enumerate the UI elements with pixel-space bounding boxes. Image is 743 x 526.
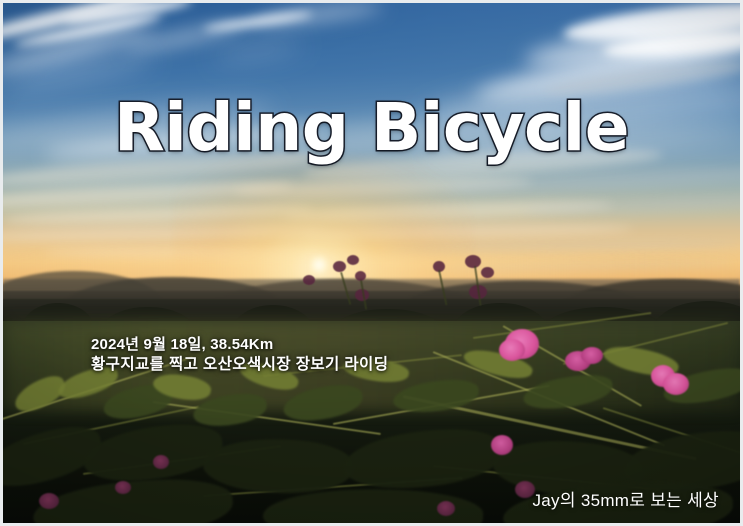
page-title: Riding Bicycle — [3, 95, 740, 161]
caption-date-distance: 2024년 9월 18일, 38.54Km — [91, 335, 388, 354]
photo-canvas: Riding Bicycle 2024년 9월 18일, 38.54Km 황구지… — [3, 3, 740, 523]
cosmos-flower — [153, 455, 169, 469]
cosmos-silhouette — [481, 267, 494, 278]
cosmos-silhouette — [303, 275, 315, 285]
sun-disc — [308, 255, 330, 275]
caption-route-description: 황구지교를 찍고 오산오색시장 장보기 라이딩 — [91, 354, 388, 375]
cosmos-flower — [581, 347, 603, 364]
caption-block: 2024년 9월 18일, 38.54Km 황구지교를 찍고 오산오색시장 장보… — [91, 335, 388, 375]
cosmos-flower — [437, 501, 455, 516]
cosmos-flower — [115, 481, 131, 494]
cosmos-flower — [499, 339, 525, 361]
cosmos-flower — [39, 493, 59, 509]
cosmos-silhouette — [347, 255, 359, 265]
cosmos-silhouette — [333, 261, 346, 272]
photo-card: Riding Bicycle 2024년 9월 18일, 38.54Km 황구지… — [0, 0, 743, 526]
cosmos-flower — [491, 435, 513, 455]
photographer-watermark: Jay의 35mm로 보는 세상 — [533, 486, 720, 511]
cosmos-flower — [663, 373, 689, 395]
